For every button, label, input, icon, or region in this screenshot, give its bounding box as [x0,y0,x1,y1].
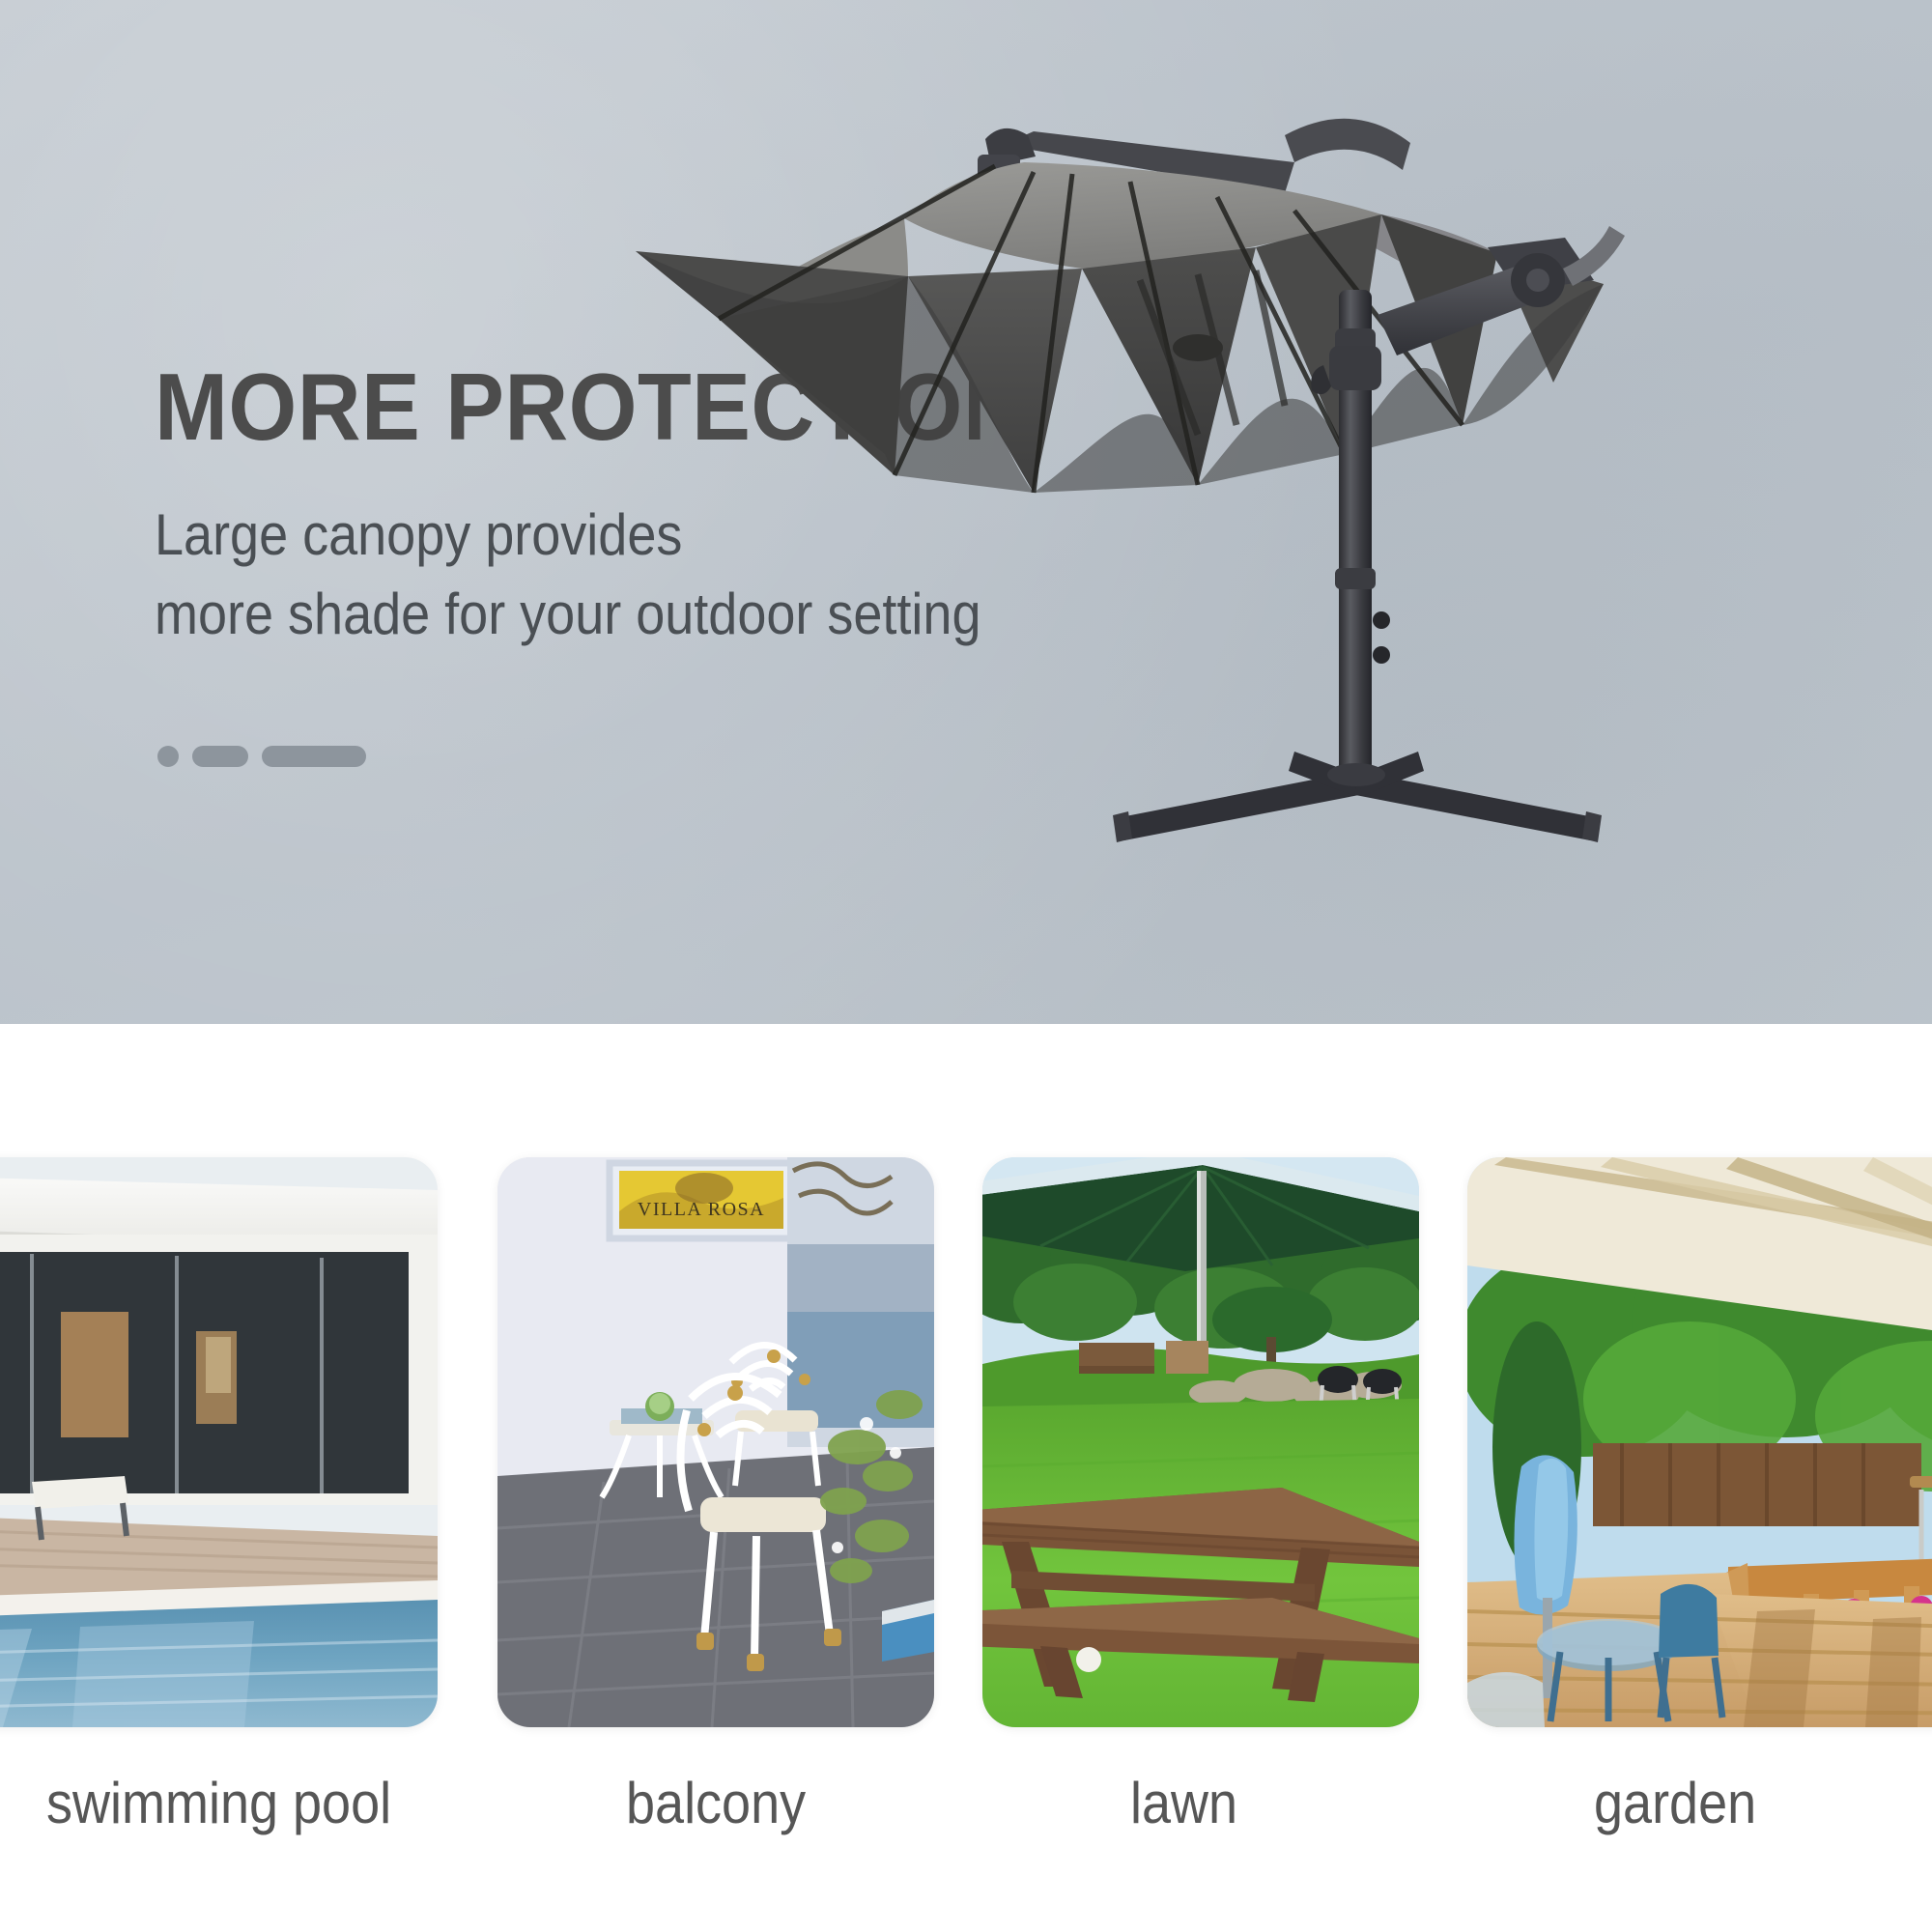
scenario-caption-list: swimming pool balcony lawn garden [0,1770,1932,1876]
poster-caption: VILLA ROSA [638,1199,765,1220]
carousel-indicator[interactable] [157,746,366,767]
indicator-pill-long-icon[interactable] [262,746,366,767]
indicator-dot-icon[interactable] [157,746,179,767]
caption-swimming-pool: swimming pool [46,1770,391,1836]
scenario-card-balcony[interactable]: VILLA ROSA [497,1157,934,1727]
balcony-photo: VILLA ROSA [497,1157,934,1727]
caption-garden: garden [1594,1770,1756,1836]
caption-balcony: balcony [626,1770,806,1836]
scenario-card-garden[interactable] [1467,1157,1932,1727]
product-image-cantilever-umbrella [618,39,1932,1024]
scenario-card-lawn[interactable] [982,1157,1419,1727]
swimming-pool-photo [0,1157,438,1727]
lawn-photo [982,1157,1419,1727]
indicator-pill-small-icon[interactable] [192,746,248,767]
usage-scenario-gallery: VILLA ROSA [0,1024,1932,1932]
scenario-card-swimming-pool[interactable] [0,1157,438,1727]
caption-lawn: lawn [1130,1770,1237,1836]
scenario-card-list: VILLA ROSA [0,1157,1932,1727]
hero-banner: MORE PROTECTION Large canopy provides mo… [0,0,1932,1024]
garden-photo [1467,1157,1932,1727]
